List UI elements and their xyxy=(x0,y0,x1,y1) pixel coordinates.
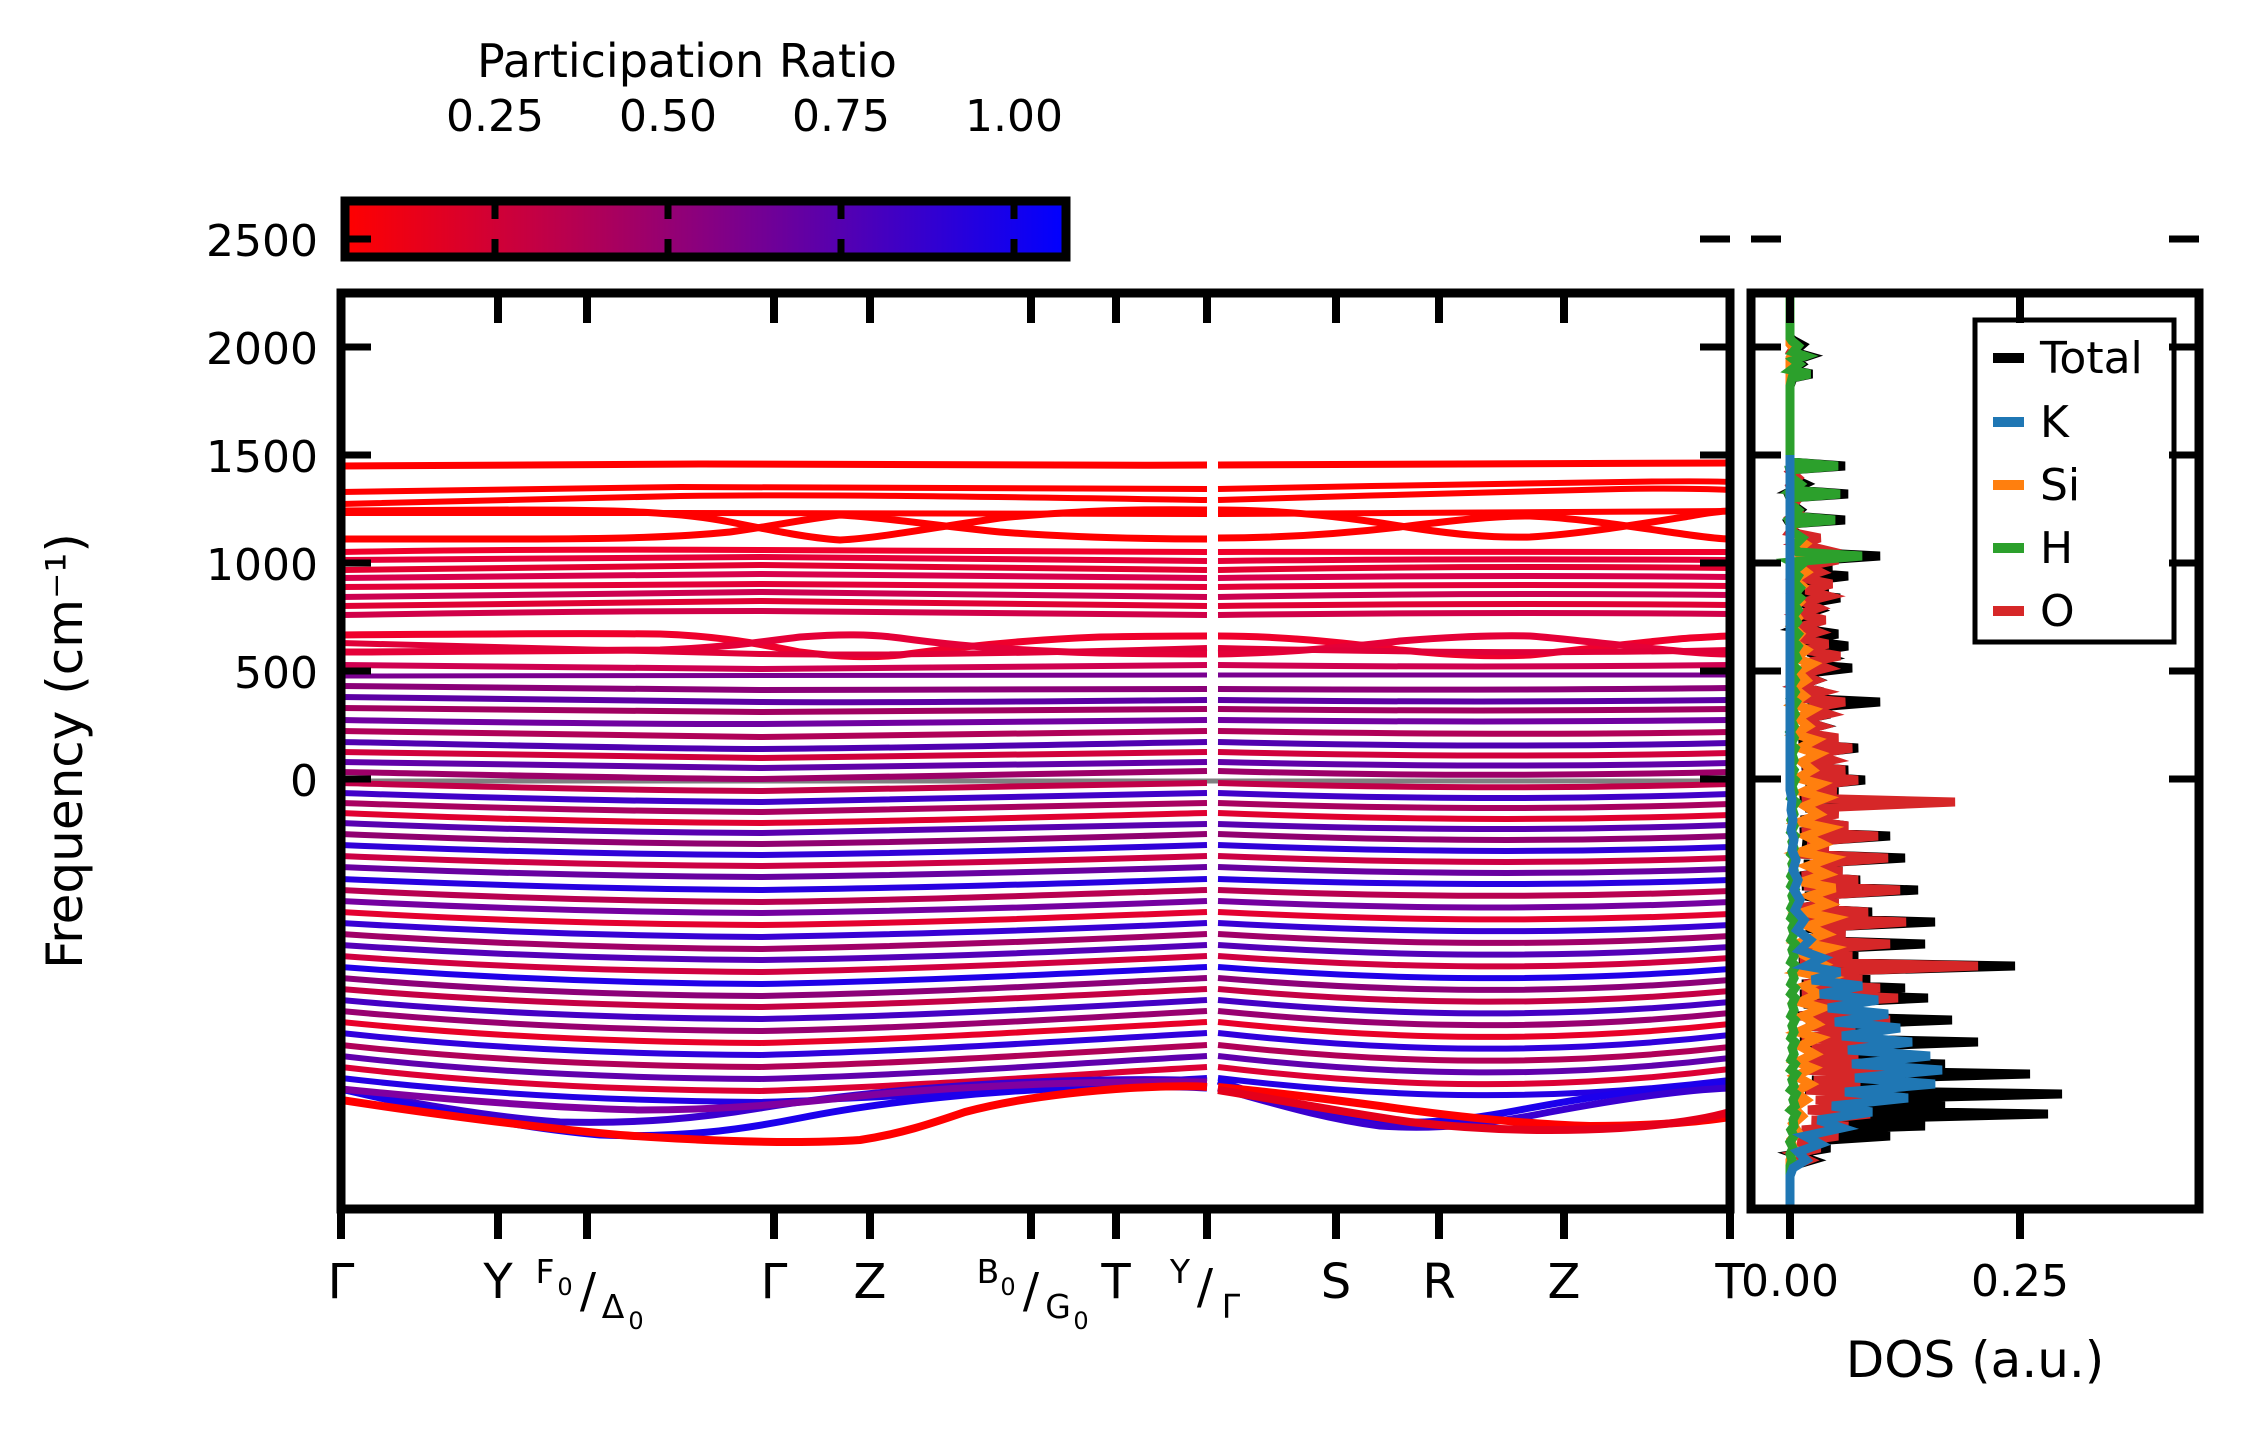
ytick-1000: 1000 xyxy=(206,540,318,591)
colorbar-title: Participation Ratio xyxy=(477,34,897,88)
colorbar-tick-0: 0.25 xyxy=(446,91,544,142)
xsym-0: Γ xyxy=(328,1254,355,1310)
legend-label-Si: Si xyxy=(2040,460,2080,511)
colorbar-tick-3: 1.00 xyxy=(965,91,1063,142)
xsym-4: Z xyxy=(854,1254,887,1310)
dos-legend: Total K Si H O xyxy=(1975,320,2174,642)
xsym-9: R xyxy=(1422,1254,1455,1310)
legend-label-K: K xyxy=(2040,397,2070,448)
svg-text:/: / xyxy=(1197,1259,1214,1315)
xsym-3: Γ xyxy=(761,1254,788,1310)
dos-xtick-0: 0.00 xyxy=(1741,1256,1839,1307)
xsym-10: Z xyxy=(1548,1254,1581,1310)
ytick-500: 500 xyxy=(234,648,318,699)
xsym-8: S xyxy=(1321,1254,1351,1310)
legend-label-total: Total xyxy=(2039,333,2143,384)
xsym-1: Y xyxy=(482,1254,513,1310)
svg-text:Δ: Δ xyxy=(602,1287,625,1326)
ytick-2000: 2000 xyxy=(206,324,318,375)
dos-x-axis-label: DOS (a.u.) xyxy=(1846,1331,2105,1389)
legend-label-O: O xyxy=(2040,586,2075,637)
colorbar-gradient xyxy=(345,201,1066,257)
colorbar-tick-2: 0.75 xyxy=(792,91,890,142)
legend-label-H: H xyxy=(2040,523,2073,574)
svg-text:Γ: Γ xyxy=(1222,1287,1241,1326)
svg-text:0: 0 xyxy=(1000,1273,1015,1301)
svg-text:0: 0 xyxy=(628,1307,643,1335)
ytick-0: 0 xyxy=(290,756,318,807)
xsym-6: T xyxy=(1100,1254,1131,1310)
svg-text:0: 0 xyxy=(1073,1307,1088,1335)
svg-text:/: / xyxy=(1023,1263,1040,1319)
svg-text:Y: Y xyxy=(1169,1252,1191,1291)
colorbar-tick-1: 0.50 xyxy=(619,91,717,142)
svg-text:B: B xyxy=(977,1252,1000,1291)
svg-text:0: 0 xyxy=(557,1273,572,1301)
ytick-2500: 2500 xyxy=(206,216,318,267)
svg-text:F: F xyxy=(536,1252,555,1291)
dos-xtick-1: 0.25 xyxy=(1971,1256,2069,1307)
ytick-1500: 1500 xyxy=(206,432,318,483)
figure-canvas: Participation Ratio 0.25 0.50 0.75 1.00 … xyxy=(0,0,2259,1455)
svg-text:G: G xyxy=(1045,1287,1071,1326)
svg-text:/: / xyxy=(580,1263,597,1319)
y-axis-label: Frequency (cm⁻¹) xyxy=(36,533,94,969)
